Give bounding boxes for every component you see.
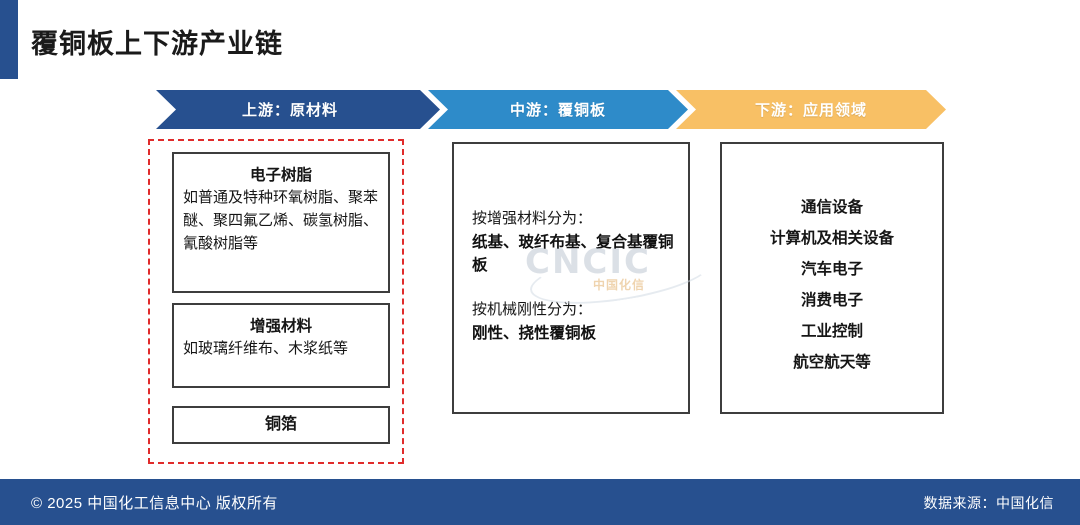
- midstream-content: 按增强材料分为： 纸基、玻纤布基、复合基覆铜板 按机械刚性分为： 刚性、挠性覆铜…: [472, 208, 676, 345]
- upstream-box-reinforcement-material-body: 如玻璃纤维布、木浆纸等: [183, 338, 379, 361]
- upstream-box-electronic-resin-title: 电子树脂: [183, 165, 379, 187]
- list-item: 计算机及相关设备: [722, 223, 942, 254]
- upstream-box-copper-foil-title: 铜箔: [265, 413, 297, 436]
- midstream-group-2-value: 刚性、挠性覆铜板: [472, 322, 676, 345]
- upstream-box-reinforcement-material-title: 增强材料: [183, 316, 379, 338]
- slide-canvas: 覆铜板上下游产业链 上游：原材料 中游：覆铜板 下游：应用领域 电子树脂 如普通…: [0, 0, 1080, 525]
- midstream-group-spacer: [472, 277, 676, 299]
- list-item: 通信设备: [722, 192, 942, 223]
- footer-data-source: 数据来源：中国化信: [924, 493, 1055, 513]
- upstream-box-electronic-resin: 电子树脂 如普通及特种环氧树脂、聚苯醚、聚四氟乙烯、碳氢树脂、氰酸树脂等: [172, 152, 390, 293]
- banner-stage-midstream-label: 中游：覆铜板: [510, 99, 606, 120]
- midstream-group-1-value: 纸基、玻纤布基、复合基覆铜板: [472, 231, 676, 278]
- banner-stage-upstream[interactable]: 上游：原材料: [140, 90, 440, 129]
- list-item: 汽车电子: [722, 254, 942, 285]
- midstream-group-2-lead: 按机械刚性分为：: [472, 299, 676, 322]
- footer-bar: © 2025 中国化工信息中心 版权所有 数据来源：中国化信: [0, 479, 1080, 525]
- list-item: 工业控制: [722, 316, 942, 347]
- midstream-group-1-lead: 按增强材料分为：: [472, 208, 676, 231]
- page-title: 覆铜板上下游产业链: [31, 22, 283, 61]
- banner-stage-downstream-label: 下游：应用领域: [755, 99, 867, 120]
- list-item: 航空航天等: [722, 347, 942, 378]
- list-item: 消费电子: [722, 285, 942, 316]
- footer-copyright: © 2025 中国化工信息中心 版权所有: [31, 492, 278, 513]
- downstream-application-list: 通信设备 计算机及相关设备 汽车电子 消费电子 工业控制 航空航天等: [722, 192, 942, 378]
- banner-stage-upstream-label: 上游：原材料: [242, 99, 338, 120]
- upstream-box-reinforcement-material: 增强材料 如玻璃纤维布、木浆纸等: [172, 303, 390, 388]
- banner-stage-downstream[interactable]: 下游：应用领域: [676, 90, 946, 129]
- banner-stage-midstream[interactable]: 中游：覆铜板: [428, 90, 688, 129]
- upstream-box-copper-foil: 铜箔: [172, 406, 390, 444]
- title-accent-bar: [0, 0, 18, 79]
- midstream-box-ccl-classification: 按增强材料分为： 纸基、玻纤布基、复合基覆铜板 按机械刚性分为： 刚性、挠性覆铜…: [452, 142, 690, 414]
- value-chain-banner: 上游：原材料 中游：覆铜板 下游：应用领域: [140, 90, 946, 129]
- upstream-box-electronic-resin-body: 如普通及特种环氧树脂、聚苯醚、聚四氟乙烯、碳氢树脂、氰酸树脂等: [183, 187, 379, 255]
- downstream-box-applications: 通信设备 计算机及相关设备 汽车电子 消费电子 工业控制 航空航天等: [720, 142, 944, 414]
